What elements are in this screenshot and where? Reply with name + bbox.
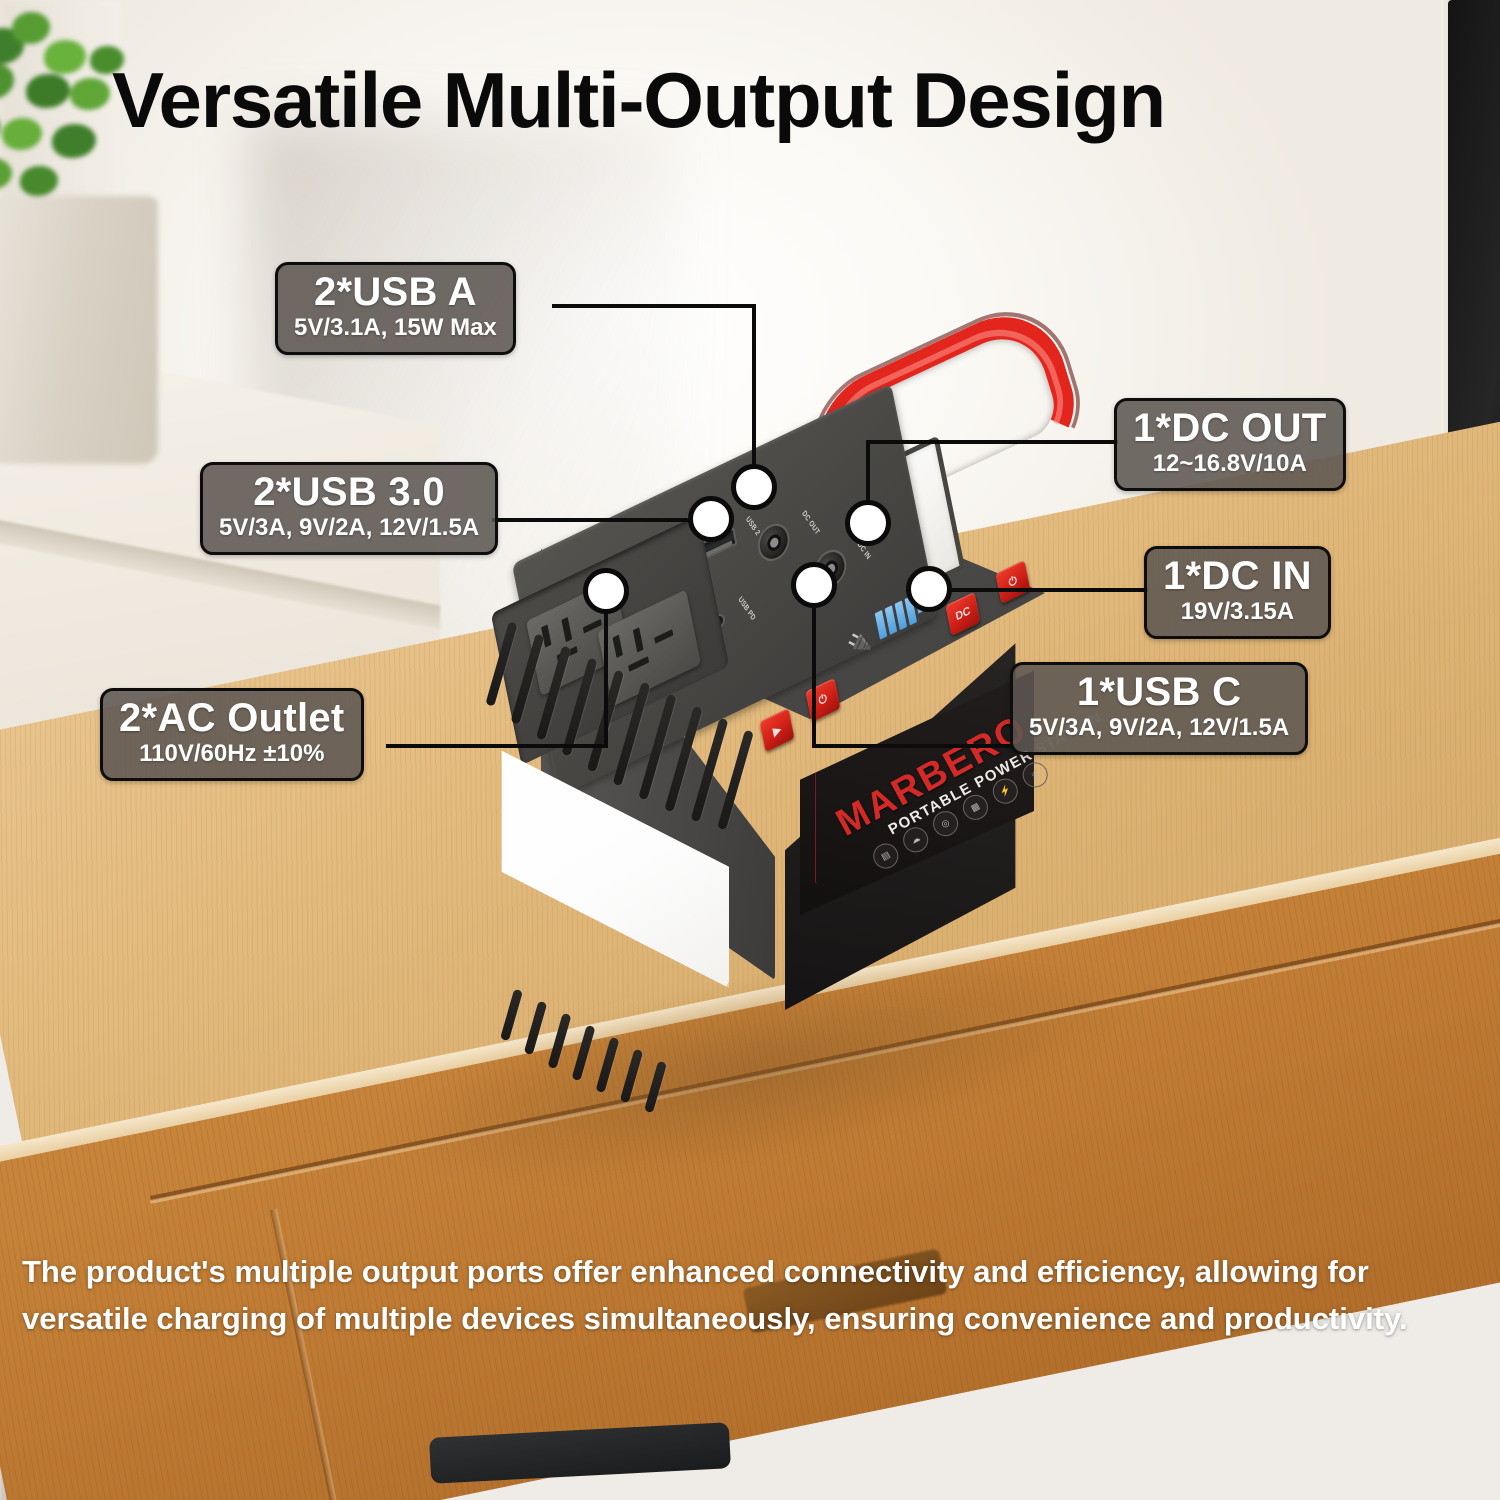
marker-usb3: [688, 496, 734, 542]
callout-usb-3-title: 2*USB 3.0: [219, 472, 479, 513]
infographic-canvas: USB 1 USB 2 USB QC 18W USB QC 18W USB PD…: [0, 0, 1500, 1500]
marker-dc-in: [906, 566, 952, 612]
leader-usb-a-h: [552, 304, 756, 308]
callout-dc-in-title: 1*DC IN: [1163, 556, 1312, 597]
callout-ac-outlet-title: 2*AC Outlet: [119, 698, 345, 739]
callout-dc-out-title: 1*DC OUT: [1133, 408, 1327, 449]
dc-out-label: DC OUT: [800, 510, 820, 537]
plant-pot: [0, 196, 158, 464]
callout-dc-in: 1*DC IN 19V/3.15A: [1144, 546, 1331, 639]
callout-usb-3: 2*USB 3.0 5V/3A, 9V/2A, 12V/1.5A: [200, 462, 498, 555]
leader-usbc-v: [812, 600, 816, 746]
callout-dc-out: 1*DC OUT 12~16.8V/10A: [1114, 398, 1346, 491]
marker-ac-outlet: [583, 568, 629, 614]
leader-ac-v: [604, 592, 608, 746]
marker-usb-a: [731, 464, 777, 510]
marker-usb-c: [791, 562, 837, 608]
leader-ac-h: [386, 744, 608, 748]
leader-usbc-h: [812, 744, 1022, 748]
leader-usb3-h: [492, 518, 708, 522]
callout-usb-a: 2*USB A 5V/3.1A, 15W Max: [275, 262, 516, 355]
leader-dcin-h: [928, 588, 1148, 592]
callout-usb-c-spec: 5V/3A, 9V/2A, 12V/1.5A: [1029, 714, 1289, 742]
marker-dc-out: [845, 500, 891, 546]
callout-ac-outlet: 2*AC Outlet 110V/60Hz ±10%: [100, 688, 364, 781]
callout-usb-a-spec: 5V/3.1A, 15W Max: [294, 314, 497, 342]
vent-grille-lower: [501, 915, 791, 1135]
page-title: Versatile Multi-Output Design: [112, 55, 1165, 146]
callout-usb-3-spec: 5V/3A, 9V/2A, 12V/1.5A: [219, 514, 479, 542]
leader-dcout-h: [866, 440, 1118, 444]
callout-dc-in-spec: 19V/3.15A: [1163, 598, 1312, 626]
callout-dc-out-spec: 12~16.8V/10A: [1133, 450, 1327, 478]
callout-usb-a-title: 2*USB A: [294, 272, 497, 313]
callout-usb-c-title: 1*USB C: [1029, 672, 1289, 713]
dc-out-jack[interactable]: [755, 518, 793, 567]
usb2-label: USB 2: [744, 515, 761, 537]
callout-usb-c: 1*USB C 5V/3A, 9V/2A, 12V/1.5A: [1010, 662, 1308, 755]
description-caption: The product's multiple output ports offe…: [22, 1248, 1482, 1342]
leader-usb-a-v: [752, 304, 756, 484]
callout-ac-outlet-spec: 110V/60Hz ±10%: [119, 740, 345, 768]
